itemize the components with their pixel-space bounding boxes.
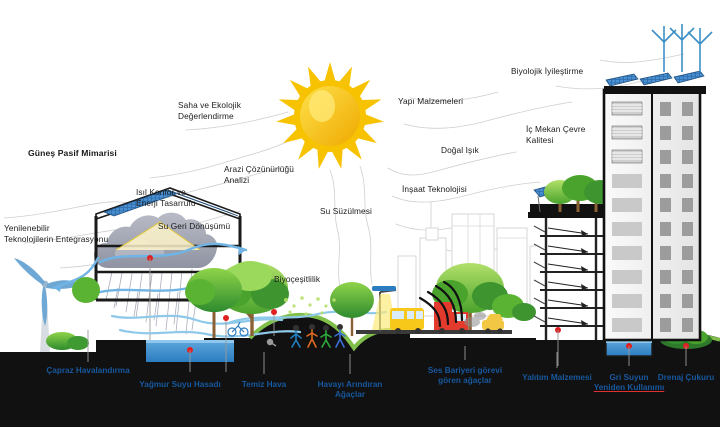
callout-label-yagmur-suyu-hasadi: Yağmur Suyu Hasadı (139, 380, 220, 390)
concept-label-yenilenebilir: Yenilenebilir Teknolojilerin Entegrasyon… (4, 223, 108, 244)
callout-label-ses-bariyeri: Ses Bariyeri görevi gören ağaçlar (428, 366, 502, 386)
callout-label-capraz-havalandirma: Çapraz Havalandırma (46, 366, 129, 376)
concept-label-su-geri-donusumu: Su Geri Dönüşümü (158, 221, 230, 232)
concept-label-dogal-isik: Doğal Işık (441, 145, 479, 156)
concept-label-gunes-pasif-mimarisi: Güneş Pasif Mimarisi (28, 148, 117, 159)
concept-label-biyocesitlilik: Biyoçeşitlilik (274, 274, 320, 285)
callout-label-havayi-arindiran: Havayı Arındıran Ağaçlar (318, 380, 383, 400)
callout-label-yeniden-kullanimi: Yeniden Kullanımı (594, 383, 665, 393)
concept-label-saha-ve-ekolojik: Saha ve Ekolojik Değerlendirme (178, 100, 241, 121)
concept-label-ic-mekan-cevre: İç Mekan Çevre Kalitesi (526, 124, 586, 145)
infographic-canvas: Güneş Pasif MimarisiYenilenebilir Teknol… (0, 0, 720, 427)
tree (72, 277, 100, 303)
concept-label-su-suzulmesi: Su Süzülmesi (320, 206, 372, 217)
callout-label-drenaj-cukuru: Drenaj Çukuru (658, 373, 714, 383)
concept-label-yapi-malzemeleri: Yapı Malzemeleri (398, 96, 463, 107)
concept-label-insaat-teknolojisi: İnşaat Teknolojisi (402, 184, 467, 195)
callout-label-yalitim-malzemesi: Yalıtım Malzemesi (522, 373, 592, 383)
concept-label-isil-konfor: Isıl Konfor ve Enerji Tasarrufu (136, 187, 196, 208)
callout-label-temiz-hava: Temiz Hava (242, 380, 286, 390)
concept-label-arazi-cozunurlugu: Arazi Çözünürlüğü Analizi (224, 164, 294, 185)
callout-label-gri-suyun: Gri Suyun (609, 373, 648, 383)
concept-label-biyolojik-iyilestirme: Biyolojik İyileştirme (511, 66, 583, 77)
